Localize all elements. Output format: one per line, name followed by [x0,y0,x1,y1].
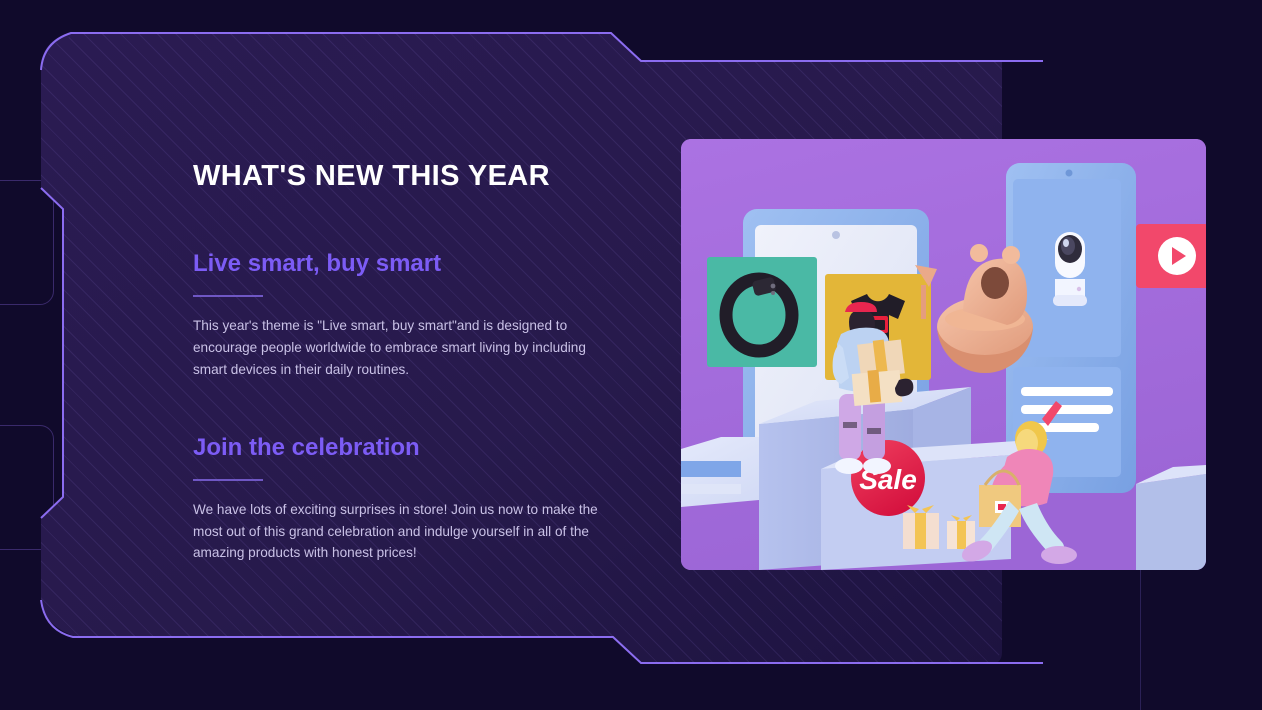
hero-illustration: 3d-shopping-scene-illustration [681,139,1206,570]
section-body-live-smart: This year's theme is "Live smart, buy sm… [193,315,623,380]
hero-banner: WHAT'S NEW THIS YEAR Live smart, buy sma… [0,0,1262,710]
section-heading-join-celebration: Join the celebration [193,434,633,463]
page-title: WHAT'S NEW THIS YEAR [193,160,633,193]
section-divider [193,295,263,297]
content-column: WHAT'S NEW THIS YEAR Live smart, buy sma… [193,160,633,564]
section-divider [193,479,263,481]
section-join-celebration: Join the celebration We have lots of exc… [193,434,633,564]
section-heading-live-smart: Live smart, buy smart [193,250,633,279]
section-live-smart: Live smart, buy smart This year's theme … [193,250,633,380]
section-body-join-celebration: We have lots of exciting surprises in st… [193,499,623,564]
